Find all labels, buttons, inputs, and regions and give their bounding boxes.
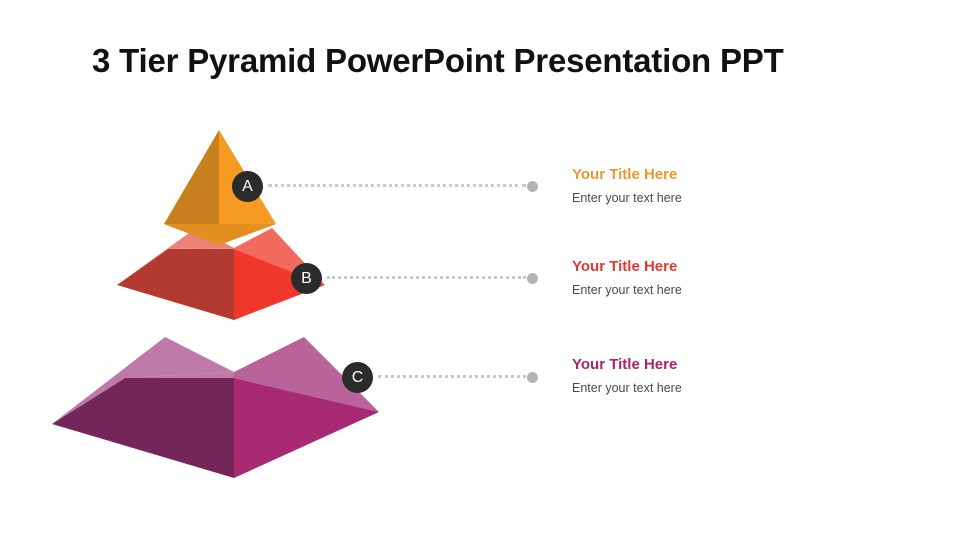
tier-description-c: Enter your text here xyxy=(572,380,902,396)
tier-text-block-c[interactable]: Your Title Here Enter your text here xyxy=(572,356,902,396)
tier-badge-b-label: B xyxy=(301,271,312,287)
tier-b-left-face xyxy=(117,249,234,320)
tier-c-left-face xyxy=(52,378,234,478)
tier-title-a: Your Title Here xyxy=(572,166,902,184)
tier-badge-a[interactable]: A xyxy=(232,171,263,202)
tier-text-block-a[interactable]: Your Title Here Enter your text here xyxy=(572,166,902,206)
tier-badge-c[interactable]: C xyxy=(342,362,373,393)
tier-title-c: Your Title Here xyxy=(572,356,902,374)
connector-end-dot-b xyxy=(527,273,538,284)
tier-text-block-b[interactable]: Your Title Here Enter your text here xyxy=(572,258,902,298)
pyramid-svg xyxy=(0,110,470,510)
pyramid-diagram xyxy=(0,110,470,510)
connector-end-dot-c xyxy=(527,372,538,383)
page-title: 3 Tier Pyramid PowerPoint Presentation P… xyxy=(92,42,784,80)
pyramid-tier-c[interactable] xyxy=(52,337,379,478)
tier-badge-b[interactable]: B xyxy=(291,263,322,294)
tier-description-b: Enter your text here xyxy=(572,282,902,298)
tier-description-a: Enter your text here xyxy=(572,190,902,206)
connector-line-c xyxy=(378,375,526,382)
tier-title-b: Your Title Here xyxy=(572,258,902,276)
tier-badge-a-label: A xyxy=(242,179,253,195)
connector-line-a xyxy=(268,184,526,191)
connector-line-b xyxy=(327,276,526,283)
slide-canvas: 3 Tier Pyramid PowerPoint Presentation P… xyxy=(0,0,960,540)
connector-end-dot-a xyxy=(527,181,538,192)
tier-badge-c-label: C xyxy=(352,370,364,386)
